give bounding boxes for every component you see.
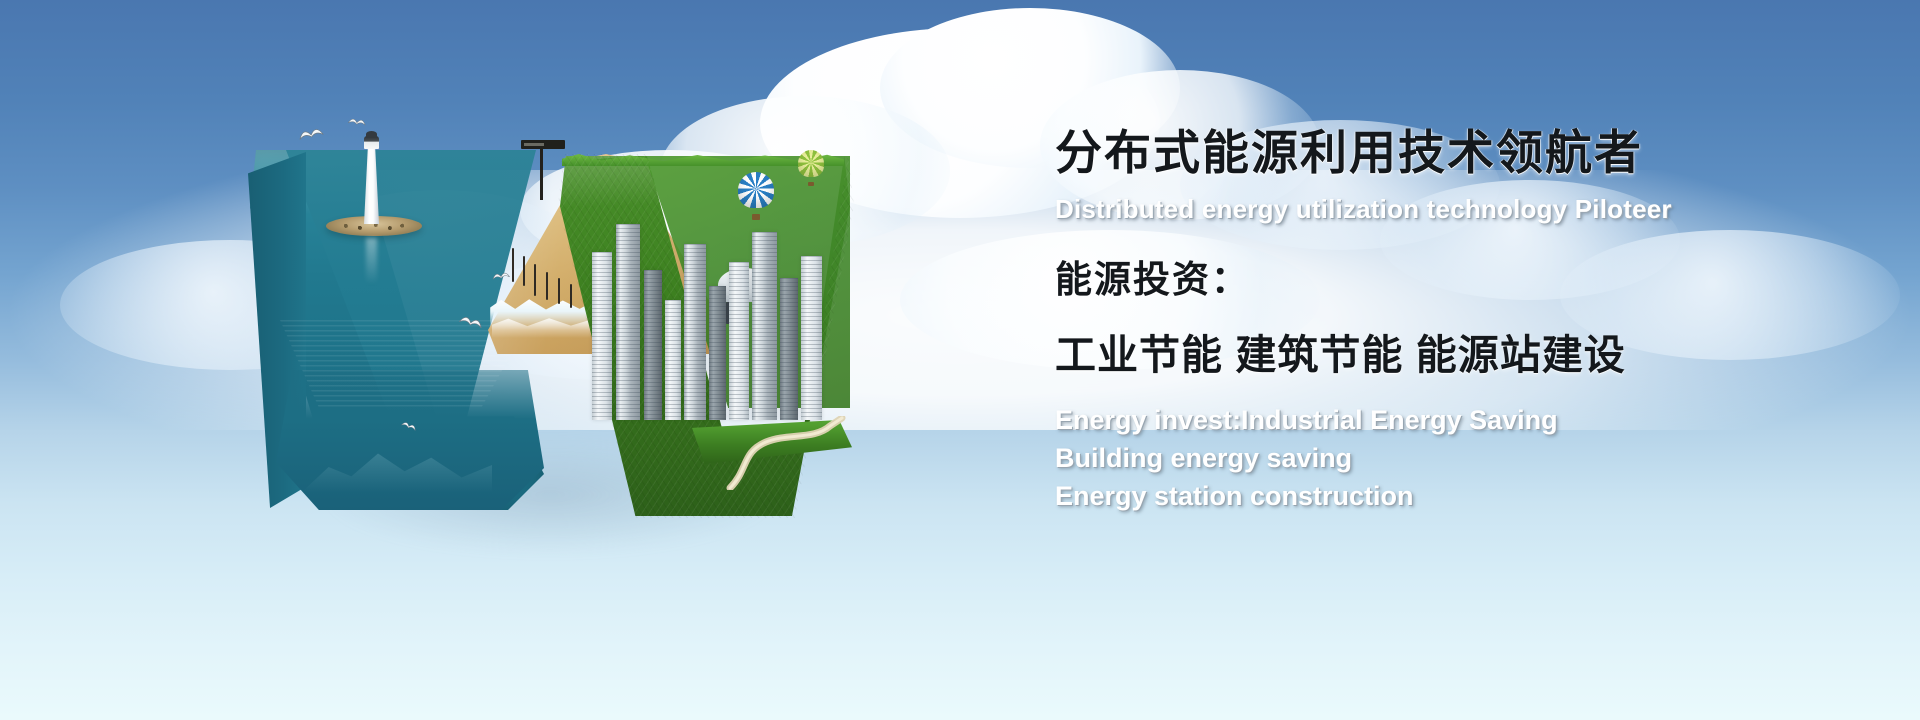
skyscraper	[752, 232, 777, 420]
skyscraper	[665, 300, 681, 420]
english-service-line: Energy station construction	[1055, 477, 1865, 515]
lighthouse-reflection	[366, 238, 377, 284]
winding-path	[726, 416, 846, 490]
city-skyline	[592, 180, 832, 420]
hot-air-balloon-blue-icon	[738, 172, 774, 218]
weathered-post-2	[523, 256, 525, 286]
weathered-post-5	[558, 278, 560, 304]
skyscraper	[644, 270, 662, 420]
weathered-post-3	[534, 264, 536, 296]
balloon-basket	[808, 182, 814, 186]
weathered-post-6	[570, 284, 572, 308]
signpost-arm-icon	[521, 140, 565, 149]
weathered-post-4	[546, 272, 548, 300]
skyscraper	[801, 256, 822, 420]
headline-chinese: 分布式能源利用技术领航者	[1055, 128, 1865, 178]
weathered-post-1	[512, 248, 514, 282]
subtitle-english: Distributed energy utilization technolog…	[1055, 194, 1865, 225]
balloon-envelope	[738, 172, 774, 208]
w-letter-artwork	[240, 120, 860, 540]
skyscraper	[780, 278, 798, 420]
service-items-chinese: 工业节能 建筑节能 能源站建设	[1055, 321, 1865, 381]
seagull-icon	[491, 271, 510, 282]
balloon-envelope	[798, 150, 824, 177]
signpost-pole-icon	[540, 142, 543, 200]
hot-air-balloon-green-icon	[798, 150, 824, 184]
skyscraper	[684, 244, 706, 420]
seagull-icon	[297, 125, 325, 142]
skyscraper	[729, 262, 749, 420]
skyscraper	[709, 286, 726, 420]
english-service-line: Energy invest:Industrial Energy Saving	[1055, 401, 1865, 439]
seagull-icon	[347, 116, 367, 127]
skyscraper	[592, 252, 612, 420]
banner-copy: 分布式能源利用技术领航者 Distributed energy utilizat…	[1055, 128, 1865, 516]
english-service-lines: Energy invest:Industrial Energy SavingBu…	[1055, 401, 1865, 516]
lead-chinese: 能源投资：	[1055, 249, 1865, 303]
skyscraper	[616, 224, 640, 420]
hero-banner: 分布式能源利用技术领航者 Distributed energy utilizat…	[0, 0, 1920, 720]
lighthouse-roof-icon	[366, 131, 377, 137]
english-service-line: Building energy saving	[1055, 439, 1865, 477]
balloon-basket	[752, 214, 761, 220]
lighthouse-lamp-icon	[364, 136, 379, 149]
